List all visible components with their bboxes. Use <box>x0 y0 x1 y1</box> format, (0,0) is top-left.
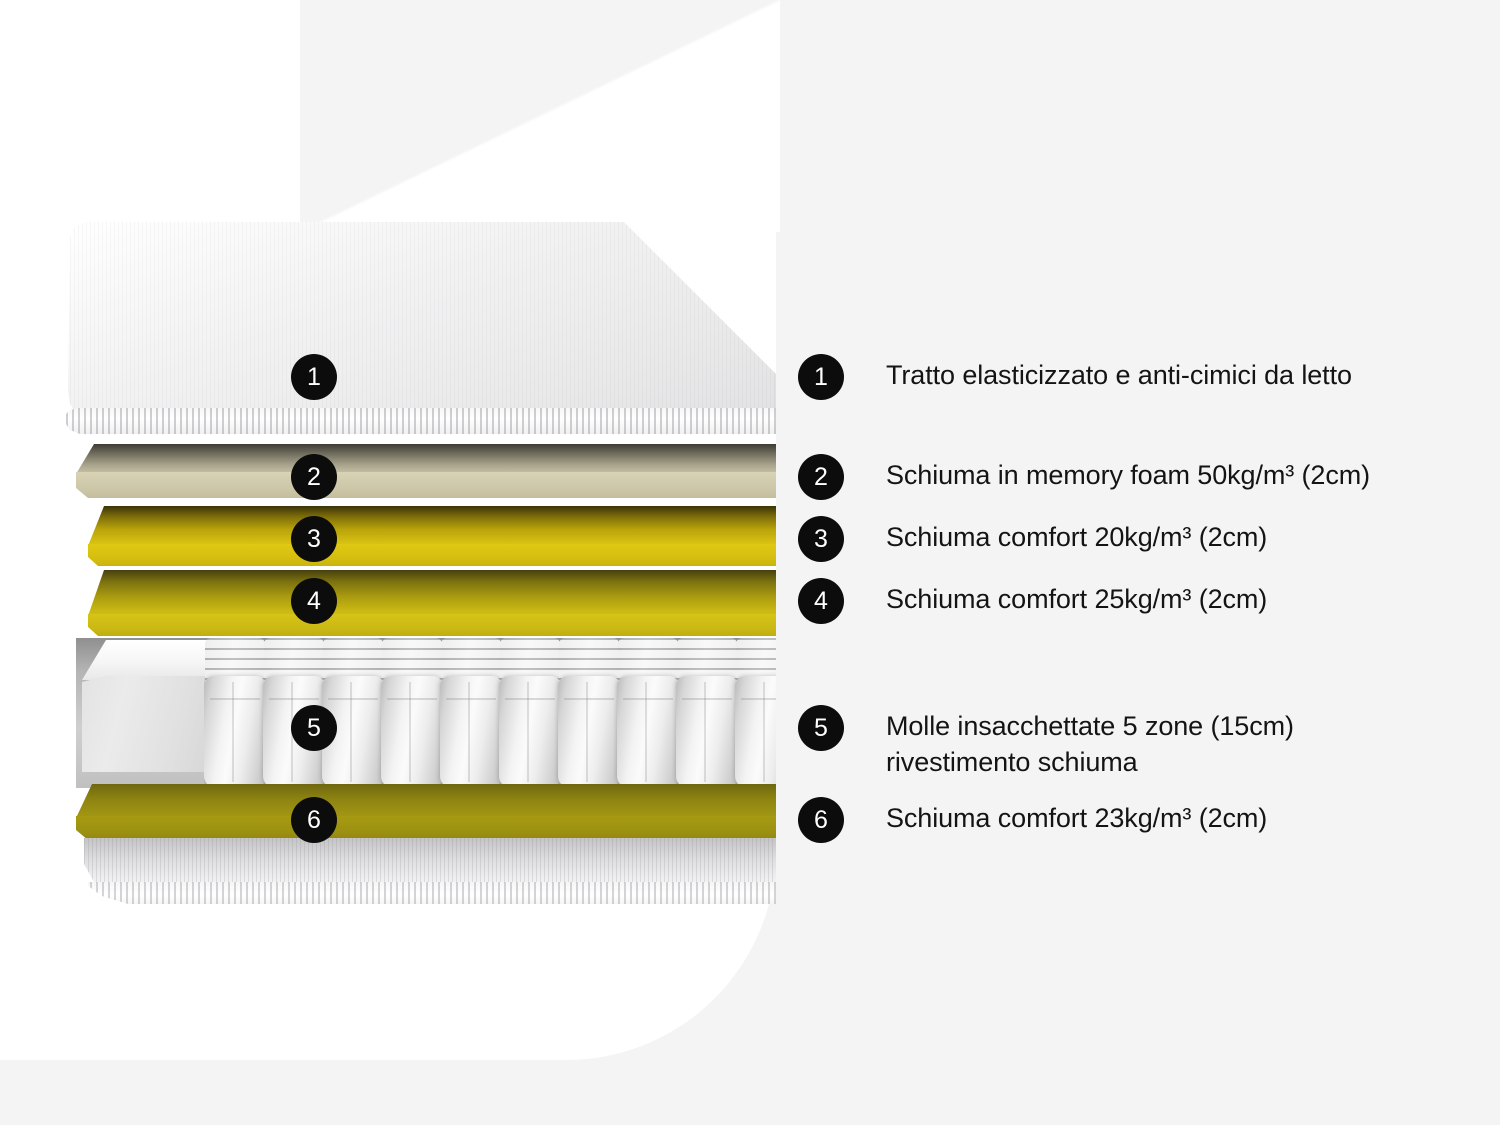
pocket-spring-seam <box>586 682 588 782</box>
legend-badge: 6 <box>798 797 844 843</box>
layer-legend-list: 1Tratto elasticizzato e anti-cimici da l… <box>798 0 1458 1125</box>
cover-fabric-piping-trim <box>66 408 776 438</box>
pocket-spring-seam <box>704 682 706 782</box>
mattress-layer-pocket-springs <box>76 638 776 788</box>
legend-label: Tratto elasticizzato e anti-cimici da le… <box>886 354 1352 393</box>
pocket-spring-body <box>735 676 776 788</box>
pocket-spring <box>676 638 738 788</box>
pocket-spring-body <box>558 676 620 788</box>
legend-badge: 1 <box>798 354 844 400</box>
base-cover-piping-trim <box>84 882 776 914</box>
pocket-spring <box>735 638 776 788</box>
memory-foam-front-face <box>76 472 776 506</box>
legend-item: 1Tratto elasticizzato e anti-cimici da l… <box>798 354 1352 400</box>
legend-badge: 3 <box>798 516 844 562</box>
pocket-spring-seam <box>468 682 470 782</box>
diagram-badge-memory-foam: 2 <box>291 454 337 500</box>
pocket-spring <box>381 638 443 788</box>
mattress-layer-comfort-foam-23kg <box>76 784 776 846</box>
pocket-spring <box>440 638 502 788</box>
comfort-foam-20kg-front-face <box>88 544 776 572</box>
pocket-spring <box>558 638 620 788</box>
pocket-spring-seam <box>409 682 411 782</box>
pocket-spring-row <box>204 638 776 788</box>
legend-item: 5Molle insacchettate 5 zone (15cm) rives… <box>798 705 1294 780</box>
legend-label: Molle insacchettate 5 zone (15cm) rivest… <box>886 705 1294 780</box>
legend-label: Schiuma comfort 25kg/m³ (2cm) <box>886 578 1267 617</box>
legend-label: Schiuma comfort 20kg/m³ (2cm) <box>886 516 1267 555</box>
pocket-spring-body <box>676 676 738 788</box>
pocket-spring-body <box>617 676 679 788</box>
comfort-foam-23kg-top-face <box>76 784 776 818</box>
pocket-spring-seam <box>645 682 647 782</box>
comfort-foam-20kg-top-face <box>88 506 776 546</box>
pocket-spring-seam <box>350 682 352 782</box>
diagram-badge-comfort-foam-23kg: 6 <box>291 797 337 843</box>
pocket-spring <box>204 638 266 788</box>
mattress-base-cover-fabric <box>84 838 776 914</box>
diagram-badge-comfort-foam-25kg: 4 <box>291 578 337 624</box>
mattress-layer-memory-foam <box>76 444 776 506</box>
pocket-spring-body <box>204 676 266 788</box>
edge-support-front-face <box>82 676 208 784</box>
legend-item: 3Schiuma comfort 20kg/m³ (2cm) <box>798 516 1267 562</box>
pocket-spring <box>499 638 561 788</box>
legend-item: 2Schiuma in memory foam 50kg/m³ (2cm) <box>798 454 1370 500</box>
cover-fabric-top-surface <box>66 222 776 418</box>
legend-item: 4Schiuma comfort 25kg/m³ (2cm) <box>798 578 1267 624</box>
mattress-cutaway-diagram: 123456 <box>0 0 776 1125</box>
legend-badge: 4 <box>798 578 844 624</box>
legend-label: Schiuma in memory foam 50kg/m³ (2cm) <box>886 454 1370 493</box>
mattress-layer-comfort-foam-25kg <box>88 570 776 642</box>
legend-item: 6Schiuma comfort 23kg/m³ (2cm) <box>798 797 1267 843</box>
pocket-springs-edge-support-block <box>82 640 208 784</box>
diagram-badge-comfort-foam-20kg: 3 <box>291 516 337 562</box>
pocket-spring-seam <box>232 682 234 782</box>
memory-foam-top-face <box>76 444 776 474</box>
edge-support-top-face <box>82 640 208 680</box>
pocket-spring-seam <box>527 682 529 782</box>
pocket-spring-seam <box>763 682 765 782</box>
mattress-layer-cover-fabric <box>66 222 776 444</box>
mattress-layer-comfort-foam-20kg <box>88 506 776 572</box>
pocket-spring-body <box>440 676 502 788</box>
diagram-badge-cover-fabric: 1 <box>291 354 337 400</box>
legend-badge: 2 <box>798 454 844 500</box>
legend-label: Schiuma comfort 23kg/m³ (2cm) <box>886 797 1267 836</box>
pocket-spring-body <box>381 676 443 788</box>
pocket-spring-body <box>499 676 561 788</box>
legend-badge: 5 <box>798 705 844 751</box>
comfort-foam-25kg-top-face <box>88 570 776 616</box>
diagram-badge-pocket-springs: 5 <box>291 705 337 751</box>
pocket-spring <box>617 638 679 788</box>
